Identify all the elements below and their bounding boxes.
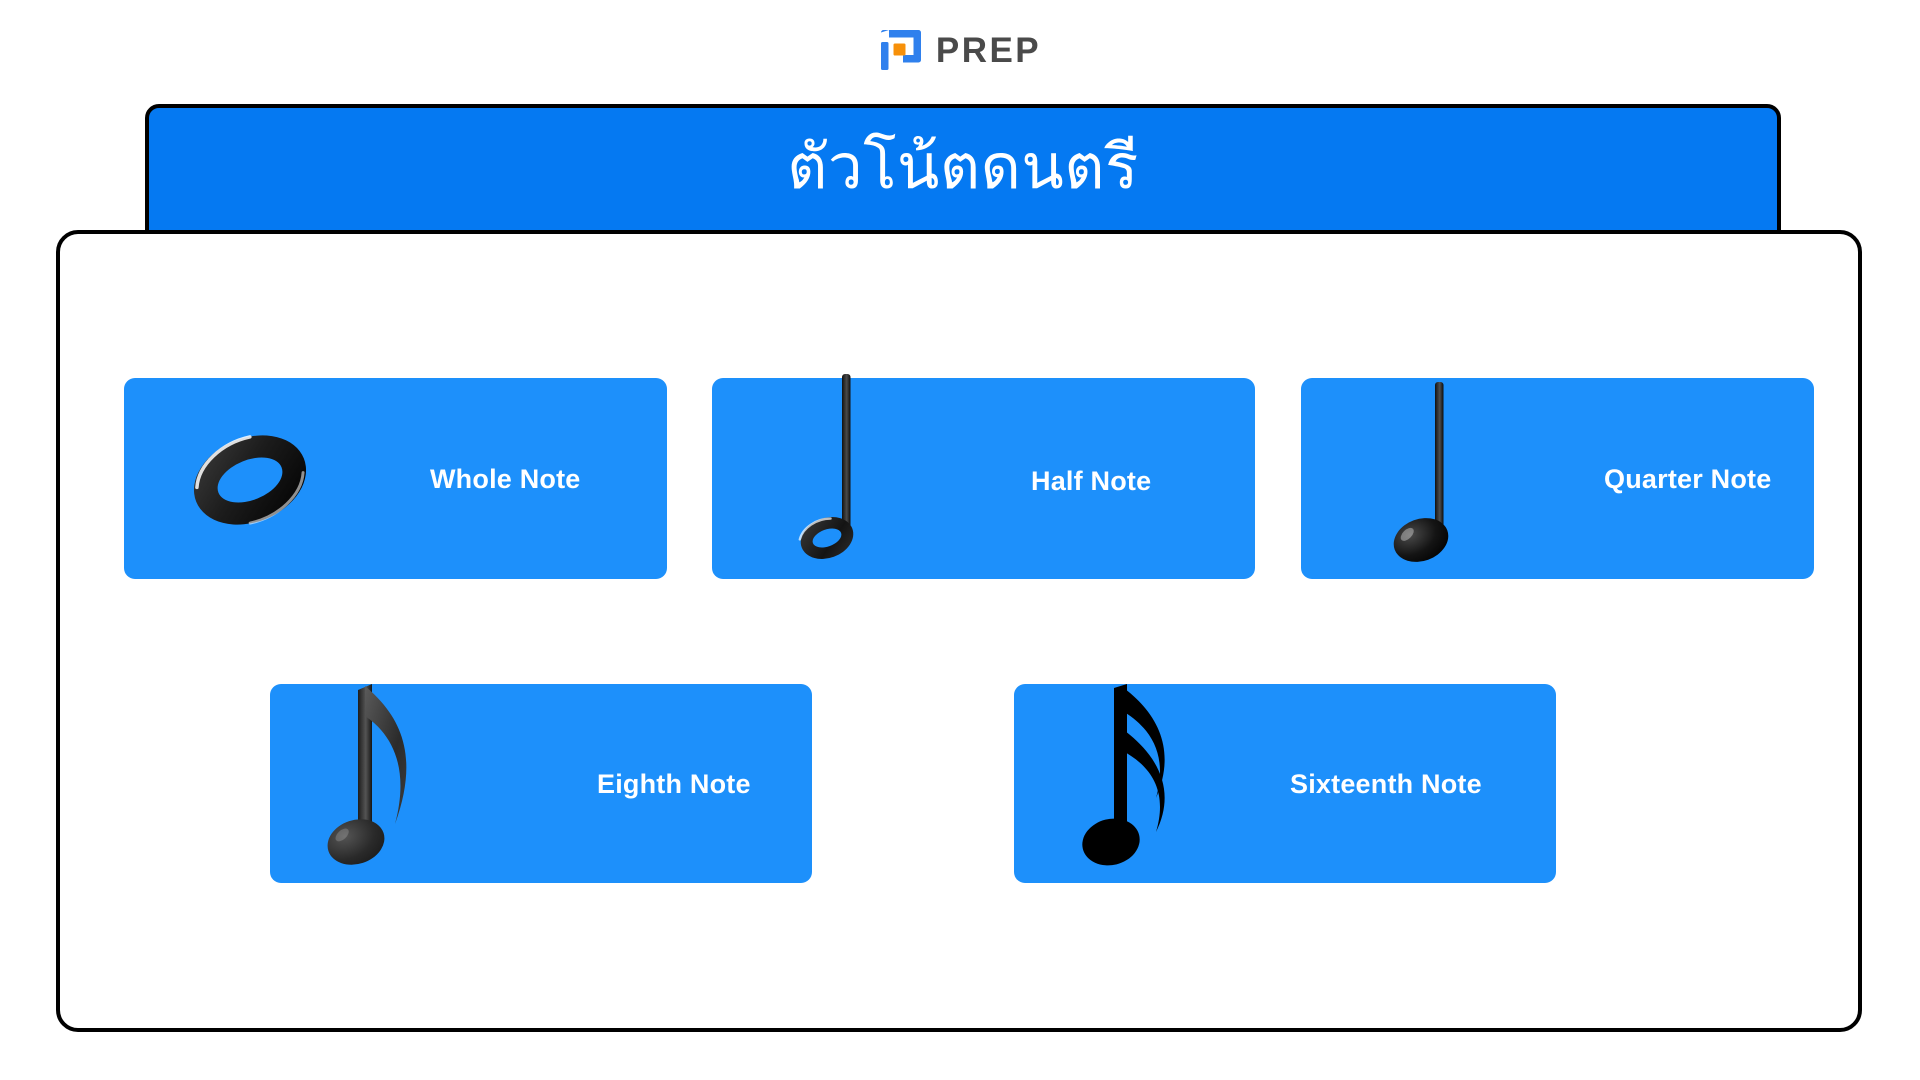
note-tile-whole[interactable] xyxy=(124,378,667,579)
note-tile-label-quarter: Quarter Note xyxy=(1604,464,1771,495)
infographic-page: PREP ตัวโน้ตดนตรี xyxy=(0,0,1920,1080)
note-tile-label-sixteenth: Sixteenth Note xyxy=(1290,769,1482,800)
page-title: ตัวโน้ตดนตรี xyxy=(787,132,1139,207)
note-tile-label-whole: Whole Note xyxy=(430,464,581,495)
note-tile-label-half: Half Note xyxy=(1031,466,1151,497)
brand-name: PREP xyxy=(936,33,1041,68)
content-card xyxy=(56,230,1862,1032)
brand-logo: PREP xyxy=(0,22,1920,78)
header-banner: ตัวโน้ตดนตรี xyxy=(145,104,1781,235)
note-tile-half[interactable] xyxy=(712,378,1255,579)
prep-logo-icon xyxy=(879,28,923,72)
note-tile-label-eighth: Eighth Note xyxy=(597,769,751,800)
